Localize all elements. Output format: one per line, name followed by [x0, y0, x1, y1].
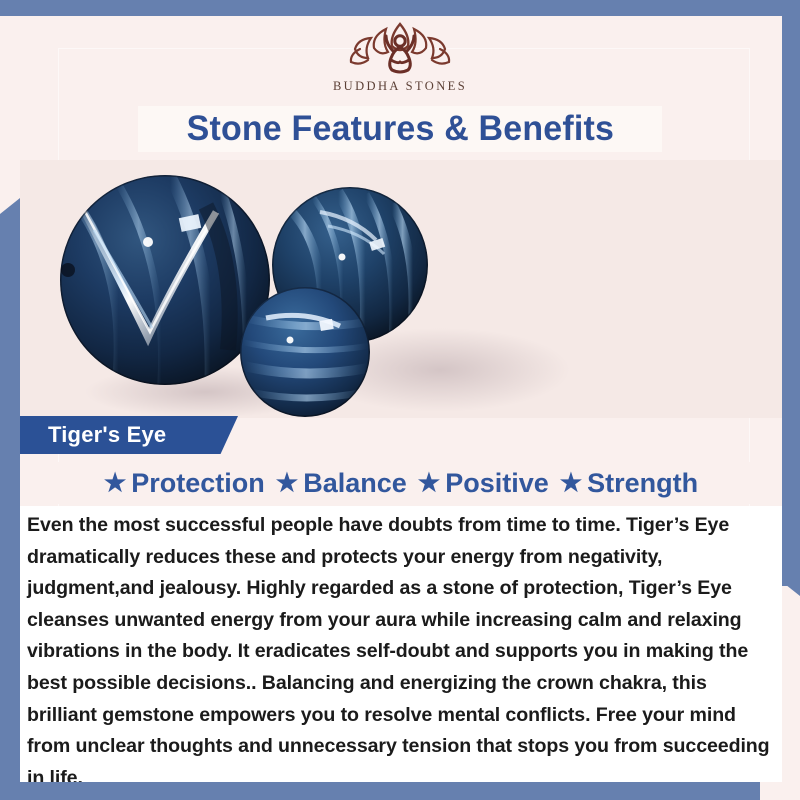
benefits-row: ★ Protection ★ Balance ★ Positive ★ Stre…	[20, 462, 782, 504]
star-icon: ★	[560, 471, 582, 496]
poster-canvas: BUDDHA STONES Stone Features & Benefits …	[0, 0, 800, 800]
page-title: Stone Features & Benefits	[186, 109, 613, 149]
stone-hero-image	[20, 160, 782, 418]
star-icon: ★	[276, 471, 298, 496]
benefit-label: Strength	[587, 468, 698, 499]
brand-logo: BUDDHA STONES	[0, 16, 800, 104]
frame-edge-right-notch	[782, 570, 800, 596]
star-icon: ★	[104, 471, 126, 496]
benefit-label: Balance	[303, 468, 407, 499]
title-banner: Stone Features & Benefits	[138, 106, 662, 152]
star-icon: ★	[418, 471, 440, 496]
benefit-label: Positive	[445, 468, 549, 499]
benefit-item-balance: ★ Balance	[276, 468, 407, 499]
stone-name-label: Tiger's Eye	[48, 422, 166, 448]
benefit-item-protection: ★ Protection	[104, 468, 265, 499]
lotus-meditation-icon	[336, 16, 464, 78]
description-text: Even the most successful people have dou…	[27, 510, 779, 794]
brand-name: BUDDHA STONES	[333, 79, 467, 94]
description-panel: Even the most successful people have dou…	[20, 506, 782, 782]
stone-photo-illustration	[20, 160, 782, 418]
stone-sphere-small	[240, 287, 370, 417]
benefit-label: Protection	[131, 468, 265, 499]
frame-edge-left	[0, 198, 20, 800]
benefit-item-positive: ★ Positive	[418, 468, 549, 499]
benefit-item-strength: ★ Strength	[560, 468, 698, 499]
stone-name-tag: Tiger's Eye	[20, 416, 238, 454]
frame-edge-top	[0, 0, 800, 16]
frame-edge-bottom	[0, 782, 760, 800]
